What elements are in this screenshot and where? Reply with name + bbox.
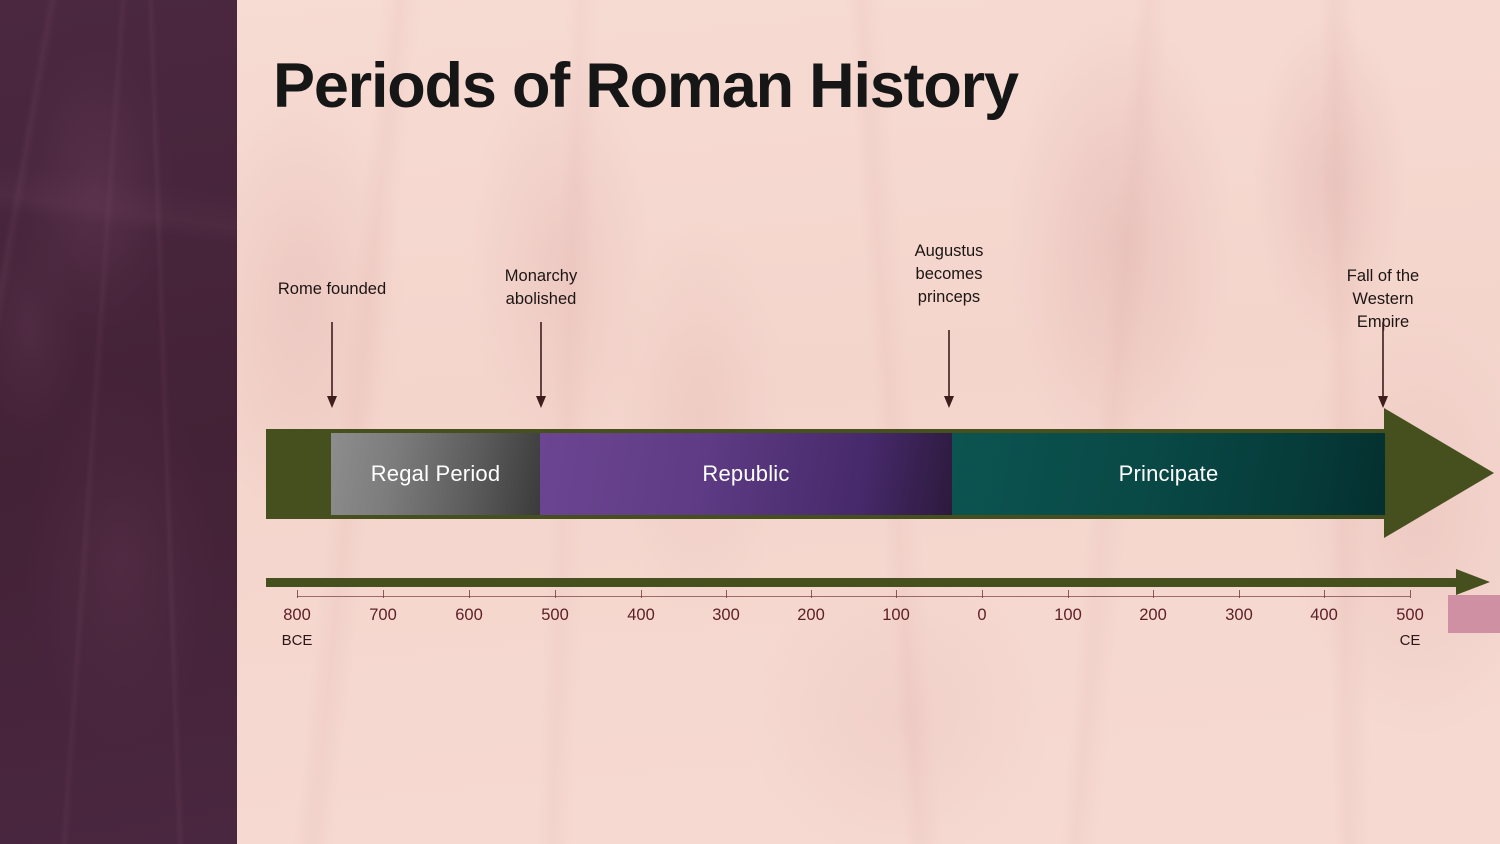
- left-decorative-panel: [0, 0, 237, 844]
- period-segment: Republic: [540, 433, 952, 515]
- event-label: Augustus becomes princeps: [915, 240, 984, 309]
- axis-tick-mark: [811, 590, 812, 598]
- axis-era-label: BCE: [282, 632, 313, 649]
- slide-canvas: Periods of Roman History Rome foundedMon…: [0, 0, 1500, 844]
- axis-era-label: CE: [1400, 632, 1421, 649]
- period-timeline-arrow: Regal PeriodRepublicPrincipate: [266, 408, 1494, 538]
- axis-tick-mark: [641, 590, 642, 598]
- period-segment-label: Republic: [702, 461, 789, 487]
- axis-tick-mark: [383, 590, 384, 598]
- event-label: Rome founded: [278, 278, 386, 301]
- axis-tick-mark: [1410, 590, 1411, 598]
- axis-tick-label: 300: [712, 606, 740, 625]
- scale-axis-head: [1456, 569, 1490, 595]
- axis-tick-mark: [555, 590, 556, 598]
- axis-tick-label: 800: [283, 606, 311, 625]
- axis-tick-label: 200: [1139, 606, 1167, 625]
- axis-tick-mark: [1153, 590, 1154, 598]
- period-segment: Principate: [952, 433, 1385, 515]
- event-pointer-arrow-icon: [533, 322, 549, 408]
- axis-tick-label: 600: [455, 606, 483, 625]
- axis-tick-rail: [297, 596, 1410, 597]
- scale-axis-body: [266, 578, 1458, 587]
- axis-tick-label: 100: [1054, 606, 1082, 625]
- axis-tick-label: 500: [541, 606, 569, 625]
- event-label: Monarchy abolished: [505, 265, 577, 311]
- event-pointer-arrow-icon: [324, 322, 340, 408]
- decorative-rose-block: [1448, 595, 1500, 633]
- page-title: Periods of Roman History: [273, 50, 1018, 122]
- axis-tick-mark: [297, 590, 298, 598]
- axis-tick-mark: [726, 590, 727, 598]
- scale-axis-arrow: [266, 569, 1494, 595]
- axis-tick-mark: [896, 590, 897, 598]
- axis-tick-mark: [1324, 590, 1325, 598]
- period-segment: Regal Period: [331, 433, 540, 515]
- period-arrow-head: [1384, 408, 1494, 538]
- sidebar-relief-image: [0, 0, 237, 844]
- axis-tick-label: 500: [1396, 606, 1424, 625]
- axis-tick-mark: [469, 590, 470, 598]
- axis-tick-mark: [1239, 590, 1240, 598]
- axis-tick-label: 200: [797, 606, 825, 625]
- axis-tick-label: 400: [627, 606, 655, 625]
- period-segment-label: Regal Period: [371, 461, 501, 487]
- axis-tick-label: 400: [1310, 606, 1338, 625]
- event-pointer-arrow-icon: [941, 330, 957, 408]
- axis-tick-label: 100: [882, 606, 910, 625]
- period-segment-label: Principate: [1119, 461, 1219, 487]
- axis-tick-label: 300: [1225, 606, 1253, 625]
- axis-tick-mark: [982, 590, 983, 598]
- axis-tick-label: 700: [369, 606, 397, 625]
- event-pointer-arrow-icon: [1375, 322, 1391, 408]
- axis-tick-mark: [1068, 590, 1069, 598]
- axis-tick-label: 0: [977, 606, 986, 625]
